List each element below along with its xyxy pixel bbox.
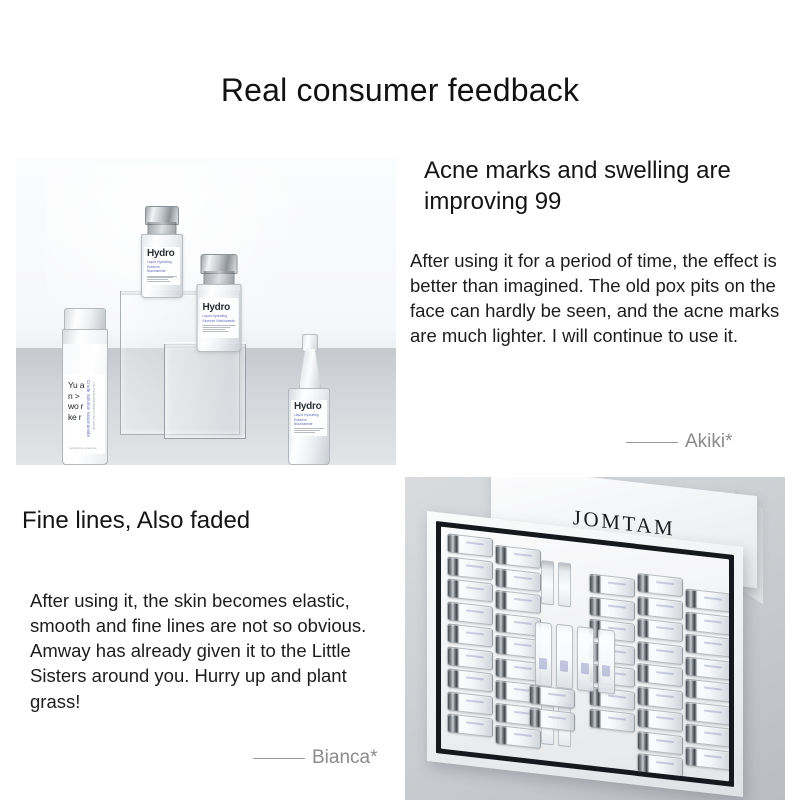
ampoule-column-left-1: [447, 533, 493, 737]
serum-vial-back: Hydro Liquid Hydrating Essence Niacinami…: [134, 206, 190, 298]
label-brand: Hydro: [203, 303, 236, 313]
gift-box-tray: [441, 527, 729, 782]
serum-bottle-cylinder-label: Yu an > wo rke r Crude Solution Niacinam…: [65, 374, 105, 454]
center-vial-group: [535, 621, 615, 694]
ampoule: [637, 595, 683, 619]
ampoule: [495, 725, 541, 749]
serum-dropper-bottle: Hydro Liquid Hydrating Essence Niacinami…: [288, 334, 330, 465]
ampoule: [589, 596, 635, 620]
gift-box-photo[interactable]: JOMTAM: [405, 477, 785, 800]
testimonial-acne-headline: Acne marks and swelling are improving 99: [424, 155, 784, 217]
center-vial: [535, 621, 552, 687]
center-vial: [556, 624, 573, 690]
label-vertical-fineprint: Liquid Hydrating Essence Niacinamide: [92, 374, 96, 430]
ampoule: [637, 685, 683, 709]
label-brand: Hydro: [147, 249, 177, 259]
label-subtitle: Liquid Hydrating Essence Niacinamide: [294, 413, 324, 427]
ampoule: [447, 578, 493, 602]
center-vial: [598, 628, 615, 694]
dropper-group-top: [541, 560, 571, 607]
serum-dropper-label: Hydro Liquid Hydrating Essence Niacinami…: [291, 400, 327, 436]
serum-vial-front-label: Hydro Liquid Hydrating Essence Niacinami…: [200, 298, 239, 338]
ampoule: [495, 567, 541, 591]
ampoule-column-bottom-left: [529, 685, 575, 732]
ampoule: [447, 646, 493, 670]
testimonial-acne-author: Akiki*: [685, 431, 733, 453]
page-title: Real consumer feedback: [0, 71, 800, 109]
serum-vial-back-label: Hydro Liquid Hydrating Essence Niacinami…: [144, 247, 180, 285]
label-microprint: hydrating essence: [69, 446, 97, 450]
testimonial-acne-attribution: Akiki*: [626, 431, 733, 453]
testimonial-acne-body: After using it for a period of time, the…: [410, 248, 800, 349]
dropper-pipette: [558, 562, 571, 607]
ampoule: [447, 533, 493, 557]
serum-bottle-cylinder: Yu an > wo rke r Crude Solution Niacinam…: [62, 308, 108, 465]
ampoule: [685, 633, 729, 657]
label-fineprint-lines: [294, 428, 324, 434]
attribution-rule-icon: [626, 442, 678, 443]
label-subtitle: Liquid Hydrating Essence Niacinamide: [203, 314, 236, 323]
serum-vial-front-neck: [204, 271, 235, 285]
label-brand-text: Yu an > wo rke r: [65, 374, 85, 423]
ampoule-column-right-2: [637, 573, 683, 777]
ampoule: [495, 590, 541, 614]
ampoule: [637, 663, 683, 687]
ampoule: [637, 730, 683, 754]
testimonial-fine-lines-headline: Fine lines, Also faded: [22, 505, 392, 536]
ampoule: [447, 668, 493, 692]
ampoule: [637, 708, 683, 732]
serum-scene-background: Yu an > wo rke r Crude Solution Niacinam…: [16, 158, 396, 465]
ampoule: [685, 701, 729, 725]
ampoule: [447, 556, 493, 580]
serum-dropper-neck: [299, 349, 321, 389]
ampoule: [637, 640, 683, 664]
ampoule: [589, 573, 635, 597]
ampoule: [685, 678, 729, 702]
gift-box-base: [427, 511, 743, 797]
feedback-page: Real consumer feedback Yu an > wo rke r …: [0, 0, 800, 800]
ampoule: [495, 545, 541, 569]
ampoule: [685, 723, 729, 747]
ampoule: [529, 685, 575, 709]
ampoule: [447, 713, 493, 737]
label-fineprint-lines: [147, 276, 177, 284]
gift-box-inner-rim: [436, 521, 734, 787]
ampoule: [685, 611, 729, 635]
ampoule: [685, 746, 729, 770]
testimonial-fine-lines-body: After using it, the skin becomes elastic…: [30, 588, 370, 714]
ampoule: [589, 708, 635, 732]
testimonial-fine-lines-author: Bianca*: [312, 747, 378, 769]
ampoule: [637, 618, 683, 642]
attribution-rule-icon: [253, 758, 305, 759]
dropper-pipette: [541, 560, 554, 605]
serum-product-photo[interactable]: Yu an > wo rke r Crude Solution Niacinam…: [16, 158, 396, 465]
label-fineprint-lines: [203, 325, 236, 333]
acrylic-stand-short: [164, 344, 246, 439]
label-vertical-text: Crude Solution Niacinamide: [86, 374, 91, 437]
gift-box-scene-background: JOMTAM: [405, 477, 785, 800]
testimonial-fine-lines-attribution: Bianca*: [253, 747, 378, 769]
ampoule: [685, 588, 729, 612]
label-subtitle: Liquid Hydrating Essence Niacinamide: [147, 260, 177, 274]
ampoule: [685, 656, 729, 680]
center-vial: [577, 626, 594, 692]
ampoule: [447, 601, 493, 625]
ampoule: [447, 623, 493, 647]
ampoule-column-right-3: [685, 588, 729, 770]
ampoule: [637, 753, 683, 777]
label-brand: Hydro: [294, 402, 324, 412]
serum-vial-front: Hydro Liquid Hydrating Essence Niacinami…: [189, 254, 249, 352]
ampoule: [637, 573, 683, 597]
ampoule: [447, 691, 493, 715]
